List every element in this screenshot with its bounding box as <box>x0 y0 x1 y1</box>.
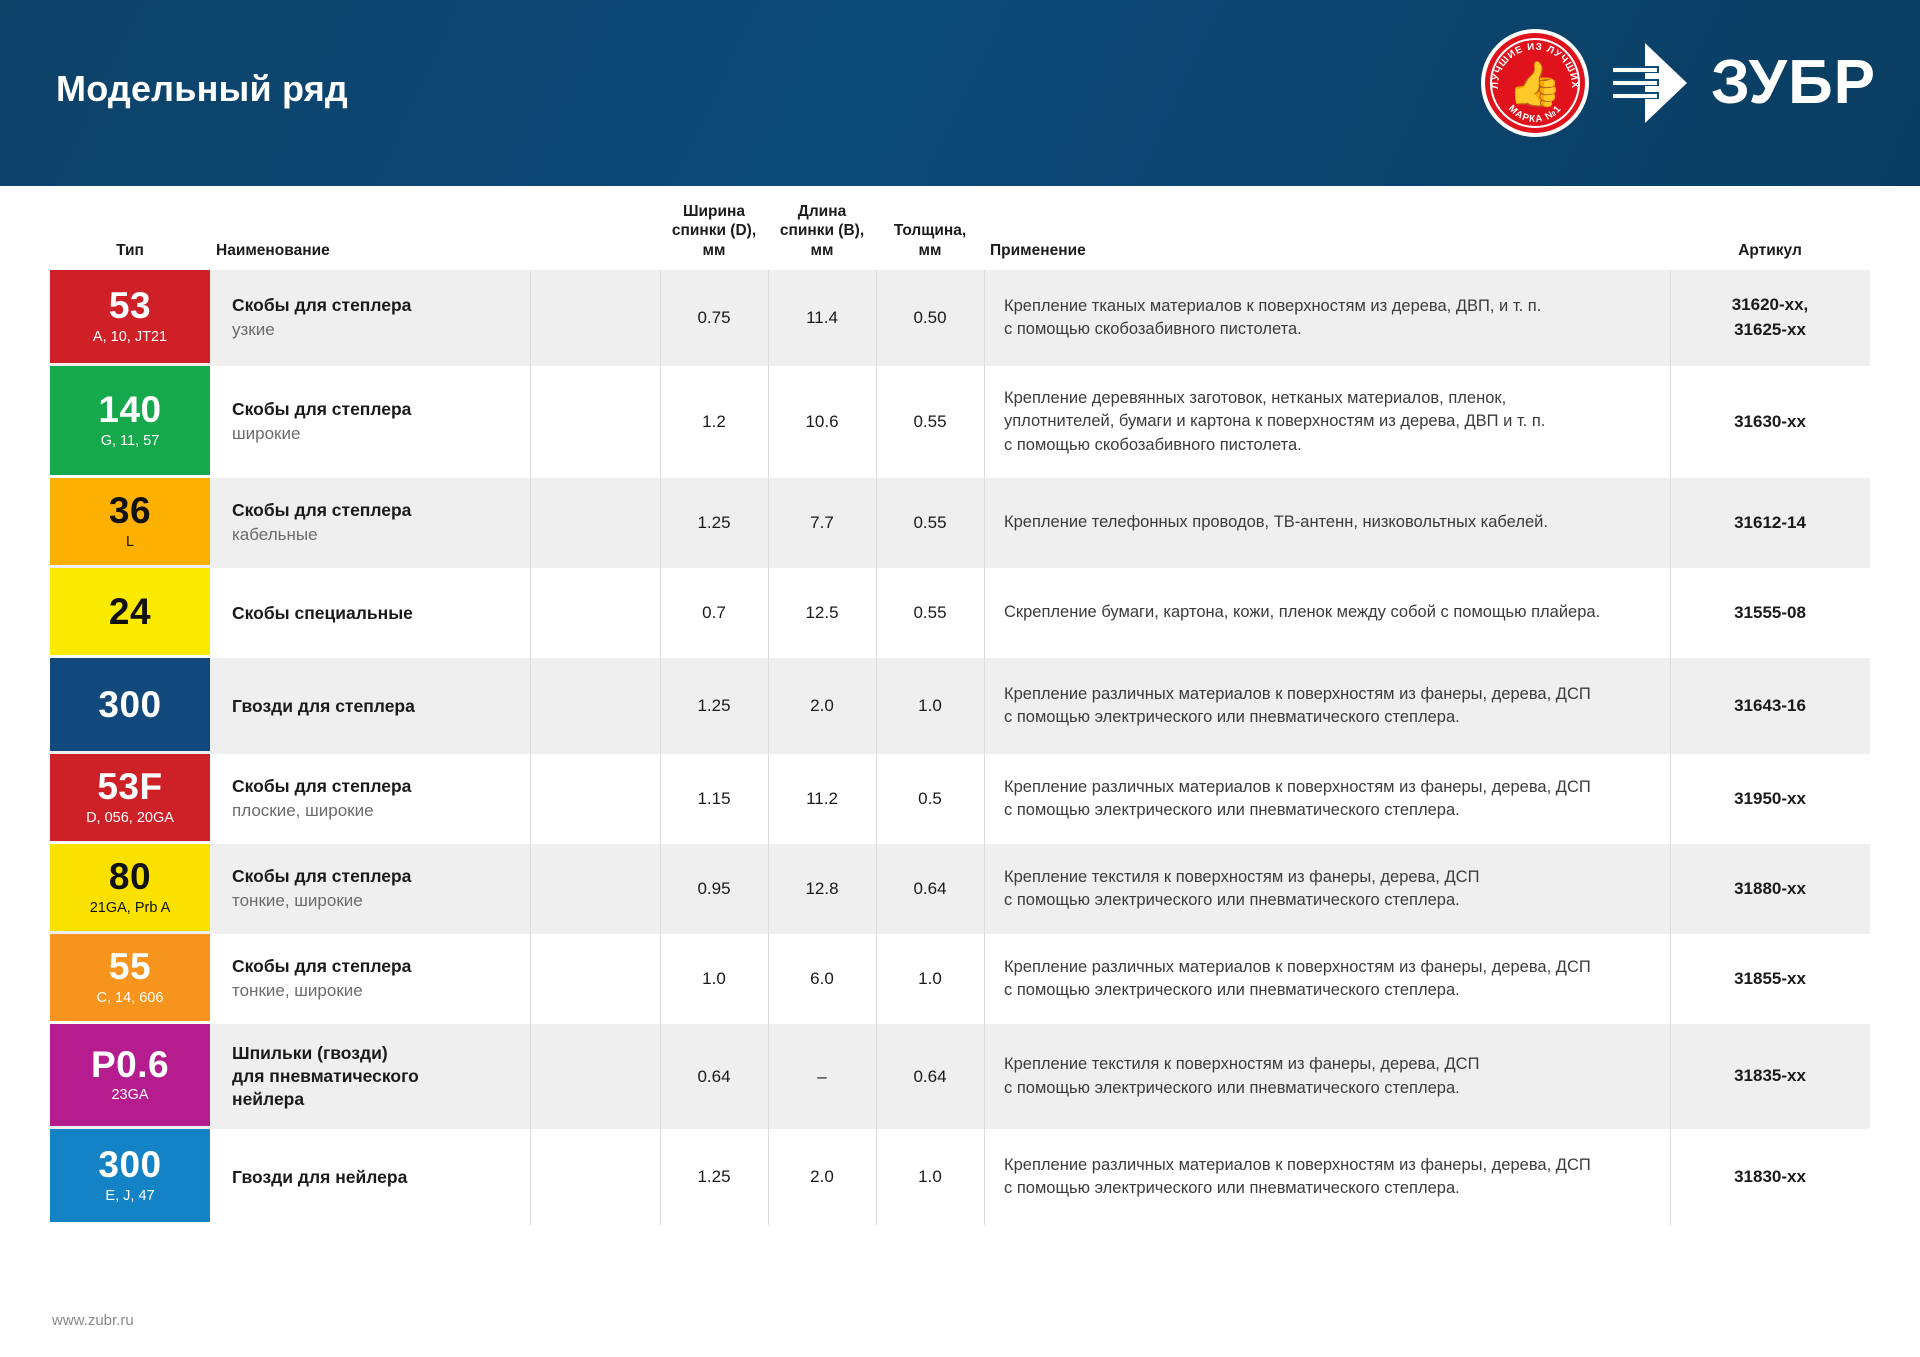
width-value: 1.25 <box>660 658 768 754</box>
type-subcode: G, 11, 57 <box>101 434 160 450</box>
diagram-cell-spacer <box>530 844 660 934</box>
application-line: с помощью электрического или пневматичес… <box>1004 979 1652 1002</box>
type-subcode: L <box>126 535 134 551</box>
product-name-variant: тонкие, широкие <box>232 980 516 1003</box>
column-header-application: Применение <box>984 241 1670 260</box>
diagram-cell-spacer <box>530 366 660 478</box>
thickness-value: 0.64 <box>876 1024 984 1129</box>
thickness-value: 1.0 <box>876 934 984 1024</box>
product-name-line: для пневматического <box>232 1065 516 1088</box>
application-cell: Крепление текстиля к поверхностям из фан… <box>984 1024 1670 1129</box>
application-line: с помощью электрического или пневматичес… <box>1004 799 1652 822</box>
product-name-variant: кабельные <box>232 524 516 547</box>
type-subcode: 21GA, Prb A <box>90 901 171 917</box>
column-header-width-line2: спинки (D), мм <box>666 221 762 260</box>
article-cell: 31630-xx <box>1670 366 1870 478</box>
article-line: 31950-xx <box>1734 787 1806 812</box>
application-line: уплотнителей, бумаги и картона к поверхн… <box>1004 410 1652 433</box>
diagram-cell-spacer <box>530 1129 660 1225</box>
application-line: с помощью скобозабивного пистолета. <box>1004 434 1652 457</box>
diagram-cell-spacer <box>530 754 660 844</box>
application-cell: Крепление текстиля к поверхностям из фан… <box>984 844 1670 934</box>
product-name: Гвозди для нейлера <box>232 1166 516 1189</box>
table-row: 36LСкобы для степлеракабельные1.257.70.5… <box>50 478 1870 568</box>
article-line: 31620-xx, <box>1732 293 1809 318</box>
length-value: 7.7 <box>768 478 876 568</box>
product-name-variant: широкие <box>232 423 516 446</box>
type-badge[interactable]: 53FD, 056, 20GA <box>50 754 210 841</box>
diagram-cell-spacer <box>530 934 660 1024</box>
thumbs-up-icon: 👍 <box>1508 63 1563 107</box>
application-cell: Крепление различных материалов к поверхн… <box>984 658 1670 754</box>
product-name-cell: Гвозди для нейлера <box>210 1129 530 1225</box>
type-subcode: 23GA <box>111 1088 148 1104</box>
application-line: Крепление различных материалов к поверхн… <box>1004 1154 1652 1177</box>
column-header-width: Ширина спинки (D), мм <box>660 202 768 260</box>
diagram-cell-spacer <box>530 478 660 568</box>
brand-block: ЛУЧШИЕ ИЗ ЛУЧШИХ МАРКА №1 👍 <box>1481 18 1876 148</box>
article-cell: 31855-xx <box>1670 934 1870 1024</box>
article-line: 31643-16 <box>1734 694 1806 719</box>
product-name-cell: Гвозди для степлера <box>210 658 530 754</box>
length-value: 10.6 <box>768 366 876 478</box>
application-cell: Крепление различных материалов к поверхн… <box>984 1129 1670 1225</box>
width-value: 0.95 <box>660 844 768 934</box>
application-line: Крепление телефонных проводов, ТВ-антенн… <box>1004 511 1652 534</box>
article-line: 31830-xx <box>1734 1165 1806 1190</box>
application-line: Скрепление бумаги, картона, кожи, пленок… <box>1004 601 1652 624</box>
type-badge[interactable]: 24 <box>50 568 210 655</box>
product-name-cell: Скобы для степлераширокие <box>210 366 530 478</box>
length-value: 11.2 <box>768 754 876 844</box>
product-name-variant: плоские, широкие <box>232 800 516 823</box>
product-name: Скобы для степлера <box>232 865 516 888</box>
product-name: Гвозди для степлера <box>232 695 516 718</box>
column-separator <box>660 270 661 1225</box>
application-line: Крепление различных материалов к поверхн… <box>1004 776 1652 799</box>
product-name-line: Шпильки (гвозди) <box>232 1042 516 1065</box>
thickness-value: 1.0 <box>876 1129 984 1225</box>
table-row: P0.623GAШпильки (гвозди)для пневматическ… <box>50 1024 1870 1129</box>
application-line: Крепление различных материалов к поверхн… <box>1004 683 1652 706</box>
application-cell: Крепление тканых материалов к поверхност… <box>984 270 1670 366</box>
product-name: Скобы для степлера <box>232 398 516 421</box>
product-name-cell: Скобы специальные <box>210 568 530 658</box>
page-root: Модельный ряд ЛУЧШИЕ ИЗ ЛУЧШИХ МАРКА №1 <box>0 0 1920 1357</box>
column-header-length: Длина спинки (B), мм <box>768 202 876 260</box>
product-name-cell: Шпильки (гвозди)для пневматическогонейле… <box>210 1024 530 1129</box>
application-line: с помощью электрического или пневматичес… <box>1004 889 1652 912</box>
width-value: 1.25 <box>660 478 768 568</box>
article-cell: 31880-xx <box>1670 844 1870 934</box>
application-cell: Крепление телефонных проводов, ТВ-антенн… <box>984 478 1670 568</box>
footer-url: www.zubr.ru <box>52 1312 134 1329</box>
diagram-cell-spacer <box>530 568 660 658</box>
diagram-cell-spacer <box>530 658 660 754</box>
table-row: 55C, 14, 606Скобы для степлератонкие, ши… <box>50 934 1870 1024</box>
article-cell: 31555-08 <box>1670 568 1870 658</box>
type-badge[interactable]: 8021GA, Prb A <box>50 844 210 931</box>
model-range-table: Тип Наименование Ширина спинки (D), мм Д… <box>50 186 1870 1225</box>
width-value: 1.0 <box>660 934 768 1024</box>
application-cell: Крепление деревянных заготовок, нетканых… <box>984 366 1670 478</box>
length-value: 12.8 <box>768 844 876 934</box>
page-title: Модельный ряд <box>56 68 348 110</box>
table-row: 300Гвозди для степлера1.252.01.0Креплени… <box>50 658 1870 754</box>
type-badge[interactable]: 36L <box>50 478 210 565</box>
type-code: 55 <box>109 948 151 986</box>
column-header-thickness-line2: мм <box>882 241 978 260</box>
type-badge[interactable]: 53A, 10, JT21 <box>50 270 210 363</box>
type-code: 36 <box>109 492 151 530</box>
column-separator <box>1670 270 1671 1225</box>
width-value: 0.75 <box>660 270 768 366</box>
product-name-variant: узкие <box>232 319 516 342</box>
type-code: 300 <box>98 1146 161 1184</box>
product-name-cell: Скобы для степлератонкие, широкие <box>210 934 530 1024</box>
article-line: 31555-08 <box>1734 601 1806 626</box>
type-badge[interactable]: P0.623GA <box>50 1024 210 1126</box>
product-name-cell: Скобы для степлераплоские, широкие <box>210 754 530 844</box>
column-header-thickness-line1: Толщина, <box>882 221 978 240</box>
best-of-the-best-badge: ЛУЧШИЕ ИЗ ЛУЧШИХ МАРКА №1 👍 <box>1481 29 1589 137</box>
application-line: с помощью электрического или пневматичес… <box>1004 706 1652 729</box>
width-value: 0.7 <box>660 568 768 658</box>
length-value: 12.5 <box>768 568 876 658</box>
thickness-value: 0.55 <box>876 366 984 478</box>
diagram-cell-spacer <box>530 270 660 366</box>
column-header-article: Артикул <box>1670 241 1870 260</box>
type-code: 24 <box>109 593 151 631</box>
application-line: с помощью электрического или пневматичес… <box>1004 1077 1652 1100</box>
thickness-value: 1.0 <box>876 658 984 754</box>
product-name-variant: тонкие, широкие <box>232 890 516 913</box>
article-cell: 31950-xx <box>1670 754 1870 844</box>
width-value: 1.25 <box>660 1129 768 1225</box>
application-cell: Скрепление бумаги, картона, кожи, пленок… <box>984 568 1670 658</box>
type-badge[interactable]: 300E, J, 47 <box>50 1129 210 1222</box>
application-line: Крепление различных материалов к поверхн… <box>1004 956 1652 979</box>
application-line: Крепление текстиля к поверхностям из фан… <box>1004 1053 1652 1076</box>
thickness-value: 0.55 <box>876 568 984 658</box>
column-separator <box>984 270 985 1225</box>
type-badge[interactable]: 140G, 11, 57 <box>50 366 210 475</box>
product-name: Скобы для степлера <box>232 294 516 317</box>
length-value: – <box>768 1024 876 1129</box>
thickness-value: 0.64 <box>876 844 984 934</box>
thickness-value: 0.50 <box>876 270 984 366</box>
type-subcode: A, 10, JT21 <box>93 330 167 346</box>
type-subcode: D, 056, 20GA <box>86 811 174 827</box>
application-cell: Крепление различных материалов к поверхн… <box>984 754 1670 844</box>
product-name-line: нейлера <box>232 1088 516 1111</box>
application-line: Крепление тканых материалов к поверхност… <box>1004 295 1652 318</box>
article-line: 31612-14 <box>1734 511 1806 536</box>
column-header-length-line1: Длина <box>774 202 870 221</box>
type-code: 53 <box>109 287 151 325</box>
table-row: 140G, 11, 57Скобы для степлераширокие1.2… <box>50 366 1870 478</box>
table-header-row: Тип Наименование Ширина спинки (D), мм Д… <box>50 186 1870 270</box>
product-name: Скобы для степлера <box>232 499 516 522</box>
table-body: B D B D B D D B <box>50 270 1870 1225</box>
table-row: 8021GA, Prb AСкобы для степлератонкие, ш… <box>50 844 1870 934</box>
column-header-name: Наименование <box>210 241 530 260</box>
type-code: 53F <box>97 768 162 806</box>
application-cell: Крепление различных материалов к поверхн… <box>984 934 1670 1024</box>
table-row: 24Скобы специальные0.712.50.55Скрепление… <box>50 568 1870 658</box>
type-code: P0.6 <box>91 1046 169 1084</box>
type-code: 140 <box>98 391 161 429</box>
article-line: 31880-xx <box>1734 877 1806 902</box>
application-line: Крепление деревянных заготовок, нетканых… <box>1004 387 1652 410</box>
article-cell: 31620-xx,31625-xx <box>1670 270 1870 366</box>
product-name: Скобы для степлера <box>232 955 516 978</box>
application-line: с помощью скобозабивного пистолета. <box>1004 318 1652 341</box>
width-value: 1.15 <box>660 754 768 844</box>
product-name: Скобы специальные <box>232 602 516 625</box>
length-value: 6.0 <box>768 934 876 1024</box>
article-line: 31630-xx <box>1734 410 1806 435</box>
application-line: с помощью электрического или пневматичес… <box>1004 1177 1652 1200</box>
type-subcode: E, J, 47 <box>105 1189 154 1205</box>
column-header-length-line2: спинки (B), мм <box>774 221 870 260</box>
column-header-type: Тип <box>50 241 210 260</box>
type-code: 300 <box>98 686 161 724</box>
width-value: 1.2 <box>660 366 768 478</box>
product-name-cell: Скобы для степлераузкие <box>210 270 530 366</box>
brand-name: ЗУБР <box>1711 52 1876 114</box>
length-value: 2.0 <box>768 1129 876 1225</box>
table-row: 53FD, 056, 20GAСкобы для степлераплоские… <box>50 754 1870 844</box>
product-name-cell: Скобы для степлеракабельные <box>210 478 530 568</box>
article-cell: 31835-xx <box>1670 1024 1870 1129</box>
table-row: 53A, 10, JT21Скобы для степлераузкие0.75… <box>50 270 1870 366</box>
column-header-width-line1: Ширина <box>666 202 762 221</box>
width-value: 0.64 <box>660 1024 768 1129</box>
product-name: Скобы для степлера <box>232 775 516 798</box>
application-line: Крепление текстиля к поверхностям из фан… <box>1004 866 1652 889</box>
type-subcode: C, 14, 606 <box>97 991 164 1007</box>
column-separator <box>876 270 877 1225</box>
table-row: 300E, J, 47Гвозди для нейлера1.252.01.0К… <box>50 1129 1870 1225</box>
type-code: 80 <box>109 858 151 896</box>
product-name-cell: Скобы для степлератонкие, широкие <box>210 844 530 934</box>
column-separator <box>530 270 531 1225</box>
type-badge[interactable]: 55C, 14, 606 <box>50 934 210 1021</box>
column-separator <box>768 270 769 1225</box>
column-header-thickness: Толщина, мм <box>876 221 984 260</box>
article-cell: 31830-xx <box>1670 1129 1870 1225</box>
article-cell: 31643-16 <box>1670 658 1870 754</box>
length-value: 2.0 <box>768 658 876 754</box>
length-value: 11.4 <box>768 270 876 366</box>
article-line: 31855-xx <box>1734 967 1806 992</box>
type-badge[interactable]: 300 <box>50 658 210 751</box>
article-line: 31625-xx <box>1734 318 1806 343</box>
article-line: 31835-xx <box>1734 1064 1806 1089</box>
article-cell: 31612-14 <box>1670 478 1870 568</box>
zubr-arrow-mark-icon <box>1611 40 1689 126</box>
page-header: Модельный ряд ЛУЧШИЕ ИЗ ЛУЧШИХ МАРКА №1 <box>0 0 1920 186</box>
diagram-cell-spacer <box>530 1024 660 1129</box>
thickness-value: 0.5 <box>876 754 984 844</box>
thickness-value: 0.55 <box>876 478 984 568</box>
